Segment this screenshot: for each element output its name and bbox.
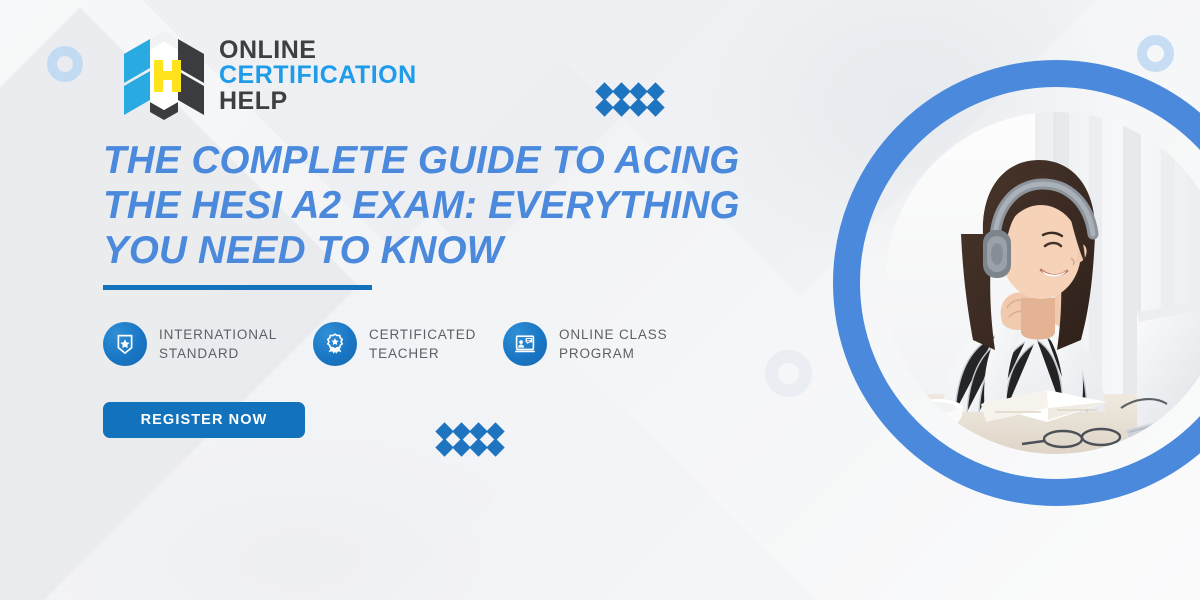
brand-logo[interactable]: ONLINE CERTIFICATION HELP: [120, 28, 417, 124]
feature-label: ONLINE CLASS PROGRAM: [559, 325, 667, 363]
title-underline: [103, 285, 372, 290]
feature-list: INTERNATIONAL STANDARD CERTIFICATED TEAC…: [103, 322, 693, 366]
promo-banner: ONLINE CERTIFICATION HELP The Complete G…: [0, 0, 1200, 600]
background-soft-blob: [40, 430, 560, 600]
page-title: The Complete Guide to Acing the HESI A2 …: [103, 138, 763, 273]
feature-item-online-class-program: ONLINE CLASS PROGRAM: [503, 322, 693, 366]
decorative-ring-icon: [47, 46, 83, 82]
feature-item-international-standard: INTERNATIONAL STANDARD: [103, 322, 313, 366]
diamond-cluster-icon: [438, 425, 502, 454]
brand-line-help: HELP: [219, 89, 417, 115]
diamond-cluster-icon: [598, 85, 662, 114]
register-now-button[interactable]: REGISTER NOW: [103, 402, 305, 438]
award-ribbon-icon: [313, 322, 357, 366]
online-class-icon: [503, 322, 547, 366]
shield-star-icon: [103, 322, 147, 366]
brand-line-online: ONLINE: [219, 38, 417, 64]
brand-line-certification: CERTIFICATION: [219, 63, 417, 89]
brand-wordmark: ONLINE CERTIFICATION HELP: [219, 38, 417, 115]
feature-label: INTERNATIONAL STANDARD: [159, 325, 277, 363]
feature-label: CERTIFICATED TEACHER: [369, 325, 476, 363]
decorative-ring-icon: [765, 350, 812, 397]
hero-image-container: [833, 60, 1200, 506]
feature-item-certificated-teacher: CERTIFICATED TEACHER: [313, 322, 503, 366]
hex-cube-h-logo-icon: [120, 28, 208, 124]
